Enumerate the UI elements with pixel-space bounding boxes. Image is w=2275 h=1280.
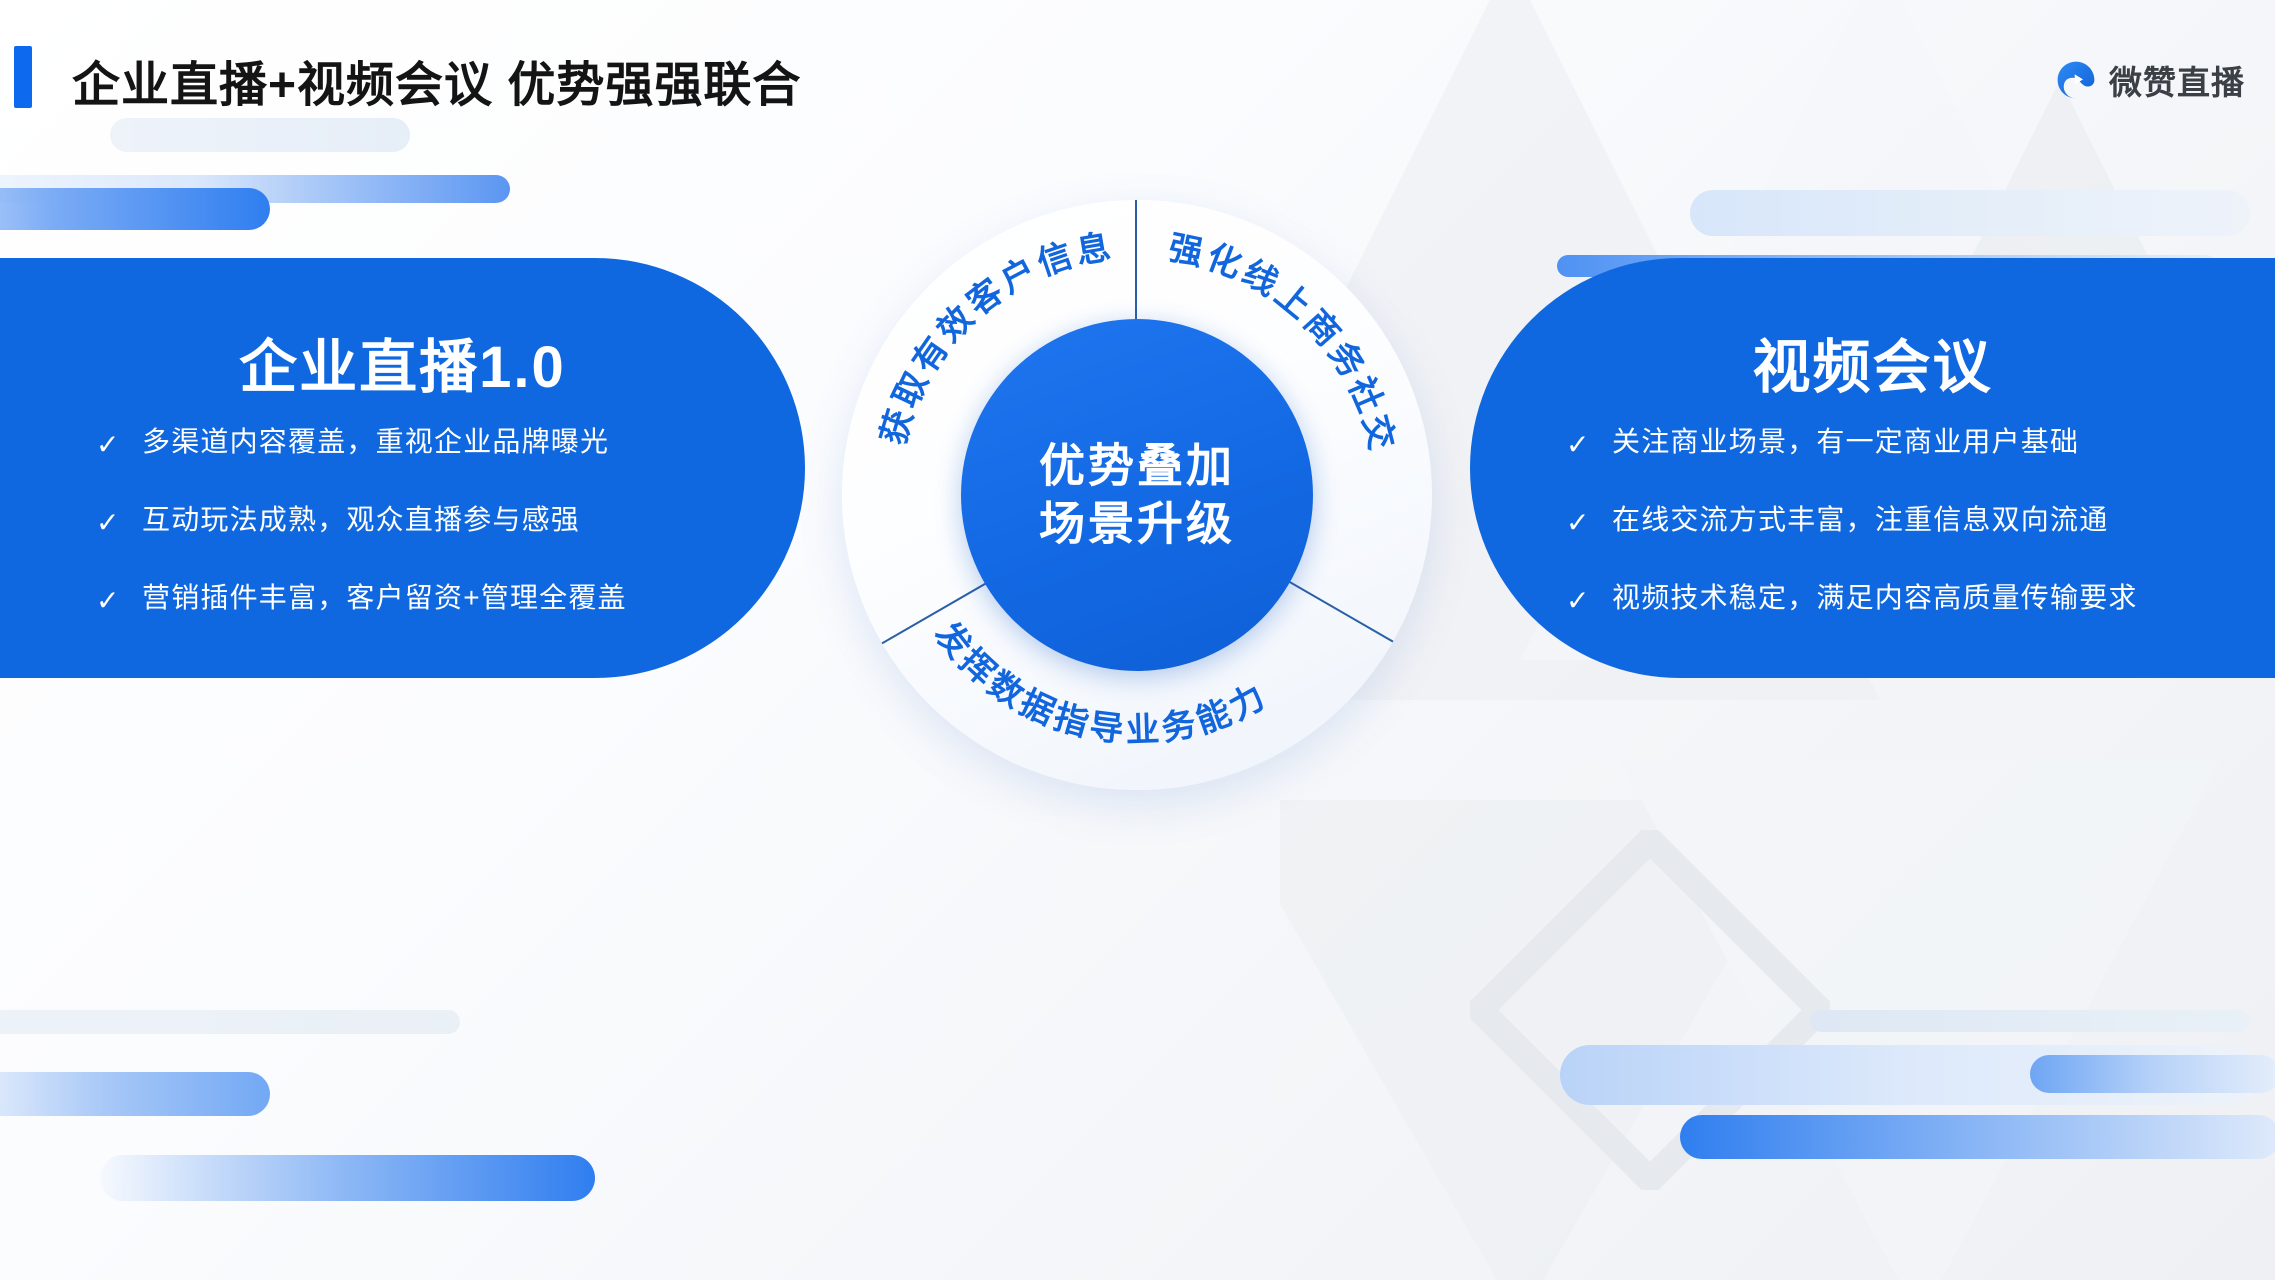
page-header: 企业直播+视频会议 优势强强联合 微赞直播 [0, 0, 2275, 150]
donut-diagram: 获取有效客户信息 强化线上商务社交 发挥数据指导业务能力 优势叠加 场景升级 [842, 200, 1432, 790]
decor-pill [1680, 1115, 2275, 1159]
left-feature-card: 企业直播1.0 ✓ 多渠道内容覆盖，重视企业品牌曝光 ✓ 互动玩法成熟，观众直播… [0, 258, 805, 678]
right-feature-card: 视频会议 ✓ 关注商业场景，有一定商业用户基础 ✓ 在线交流方式丰富，注重信息双… [1470, 258, 2275, 678]
title-accent-bar [14, 46, 32, 108]
list-item-label: 营销插件丰富，客户留资+管理全覆盖 [142, 584, 627, 612]
decor-pill [2030, 1055, 2275, 1093]
center-line-1: 优势叠加 [1039, 438, 1235, 496]
list-item: ✓ 互动玩法成熟，观众直播参与感强 [0, 506, 805, 534]
page-title: 企业直播+视频会议 优势强强联合 [72, 45, 801, 115]
brand-logo-text: 微赞直播 [2109, 56, 2245, 104]
decor-pill [1810, 1010, 2250, 1032]
list-item: ✓ 在线交流方式丰富，注重信息双向流通 [1470, 506, 2275, 534]
list-item: ✓ 多渠道内容覆盖，重视企业品牌曝光 [0, 428, 805, 456]
check-icon: ✓ [96, 431, 120, 459]
donut-center-label: 优势叠加 场景升级 [1039, 438, 1235, 553]
check-icon: ✓ [1566, 587, 1590, 615]
decor-pill [0, 1072, 270, 1116]
check-icon: ✓ [1566, 431, 1590, 459]
left-card-title: 企业直播1.0 [0, 320, 805, 404]
play-triangle-icon [2055, 59, 2097, 101]
slide-canvas: 企业直播+视频会议 优势强强联合 微赞直播 企业直播1.0 ✓ 多渠道内容覆盖，… [0, 0, 2275, 1280]
list-item-label: 视频技术稳定，满足内容高质量传输要求 [1612, 584, 2138, 612]
decor-pill [0, 188, 270, 230]
right-card-title: 视频会议 [1470, 320, 2275, 404]
list-item-label: 多渠道内容覆盖，重视企业品牌曝光 [142, 428, 609, 456]
list-item-label: 互动玩法成熟，观众直播参与感强 [142, 506, 580, 534]
list-item-label: 关注商业场景，有一定商业用户基础 [1612, 428, 2079, 456]
left-card-bullet-list: ✓ 多渠道内容覆盖，重视企业品牌曝光 ✓ 互动玩法成熟，观众直播参与感强 ✓ 营… [0, 428, 805, 662]
check-icon: ✓ [1566, 509, 1590, 537]
decor-pill [0, 1010, 460, 1034]
decor-pill [100, 1155, 595, 1201]
right-card-bullet-list: ✓ 关注商业场景，有一定商业用户基础 ✓ 在线交流方式丰富，注重信息双向流通 ✓… [1470, 428, 2275, 662]
list-item: ✓ 营销插件丰富，客户留资+管理全覆盖 [0, 584, 805, 612]
center-line-2: 场景升级 [1039, 495, 1235, 553]
list-item: ✓ 关注商业场景，有一定商业用户基础 [1470, 428, 2275, 456]
list-item-label: 在线交流方式丰富，注重信息双向流通 [1612, 506, 2108, 534]
check-icon: ✓ [96, 587, 120, 615]
check-icon: ✓ [96, 509, 120, 537]
decor-pill [1690, 190, 2250, 236]
list-item: ✓ 视频技术稳定，满足内容高质量传输要求 [1470, 584, 2275, 612]
brand-logo[interactable]: 微赞直播 [2055, 56, 2245, 104]
